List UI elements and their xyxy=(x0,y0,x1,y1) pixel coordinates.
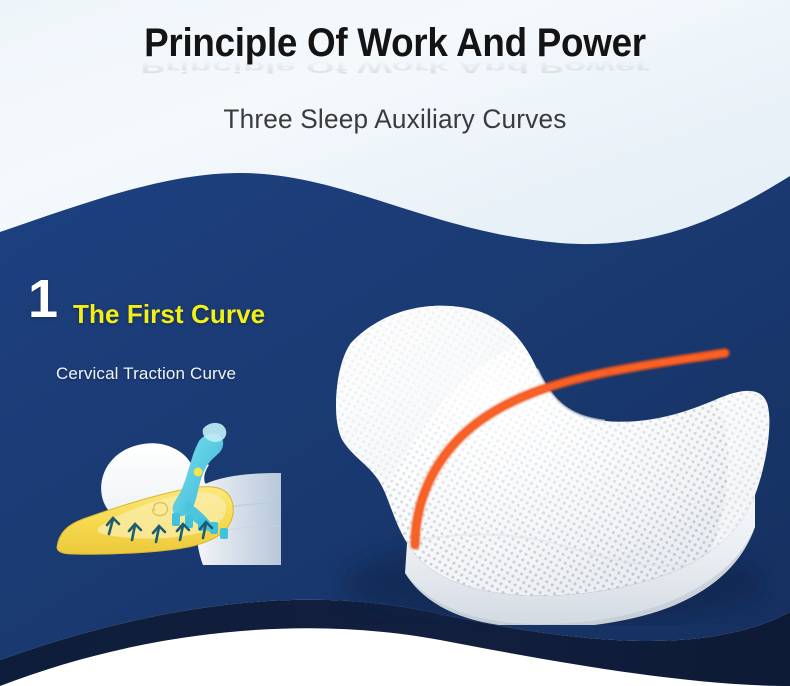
page-subtitle: Three Sleep Auxiliary Curves xyxy=(12,104,778,135)
feature-number: 1 xyxy=(28,272,57,326)
feature-subtitle: Cervical Traction Curve xyxy=(56,364,236,384)
cervical-support-illustration xyxy=(53,415,281,570)
banner-root: Principle Of Work And Power Principle Of… xyxy=(0,0,790,686)
spine-highlight-dot xyxy=(194,468,203,477)
contour-pillow-product-image xyxy=(255,295,775,625)
feature-title: The First Curve xyxy=(73,299,265,330)
